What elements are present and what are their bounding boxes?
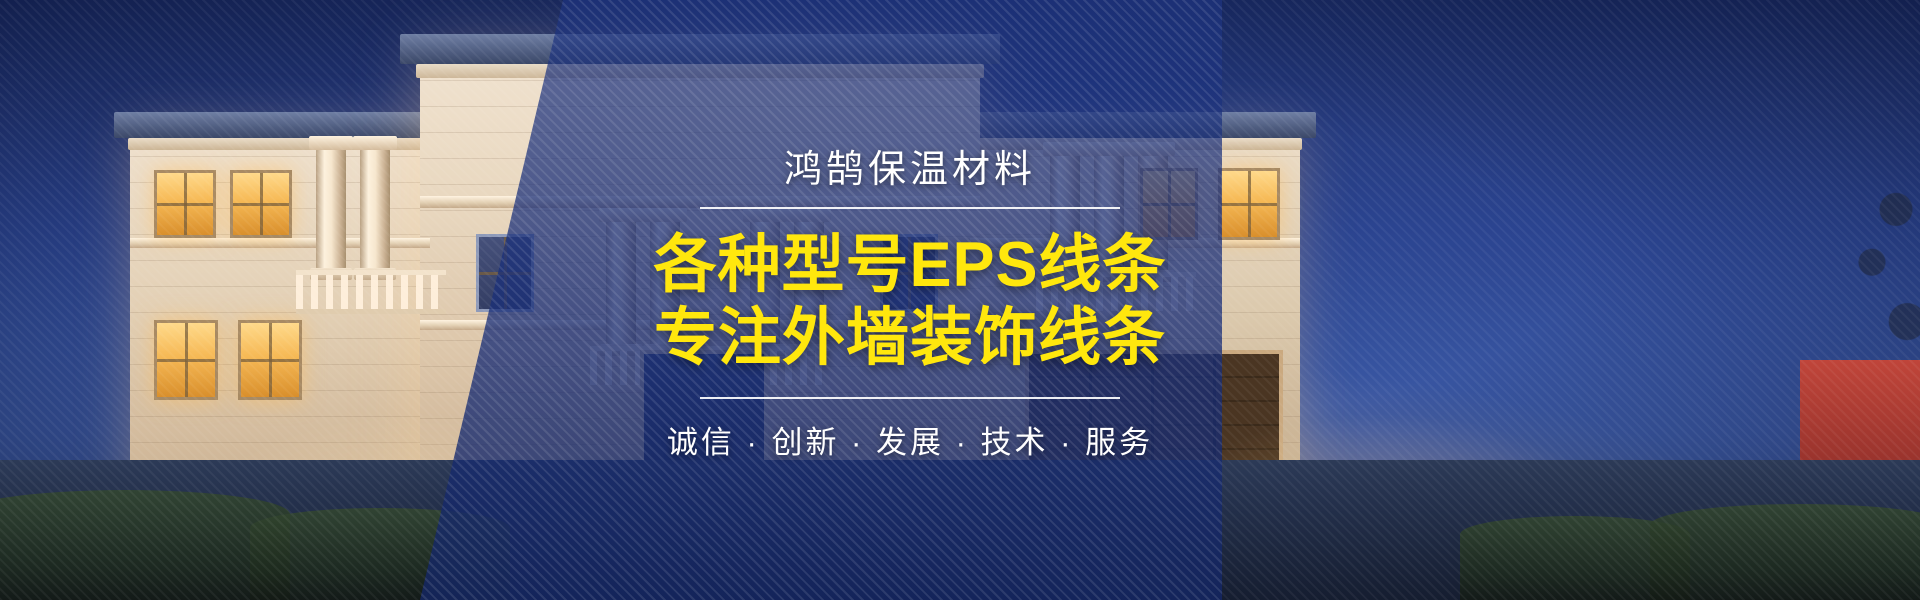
brand-name: 鸿鹄保温材料 (784, 138, 1036, 193)
tagline: 诚信 · 创新 · 发展 · 技术 · 服务 (667, 417, 1153, 462)
headline: 各种型号EPS线条 专注外墙装饰线条 (653, 229, 1166, 375)
divider-bottom (700, 397, 1120, 399)
divider-top (700, 207, 1120, 209)
hero-banner: 鸿鹄保温材料 各种型号EPS线条 专注外墙装饰线条 诚信 · 创新 · 发展 ·… (0, 0, 1920, 600)
headline-line-1: 各种型号EPS线条 (653, 229, 1166, 302)
banner-content: 鸿鹄保温材料 各种型号EPS线条 专注外墙装饰线条 诚信 · 创新 · 发展 ·… (560, 0, 1260, 600)
headline-line-2: 专注外墙装饰线条 (653, 302, 1166, 375)
